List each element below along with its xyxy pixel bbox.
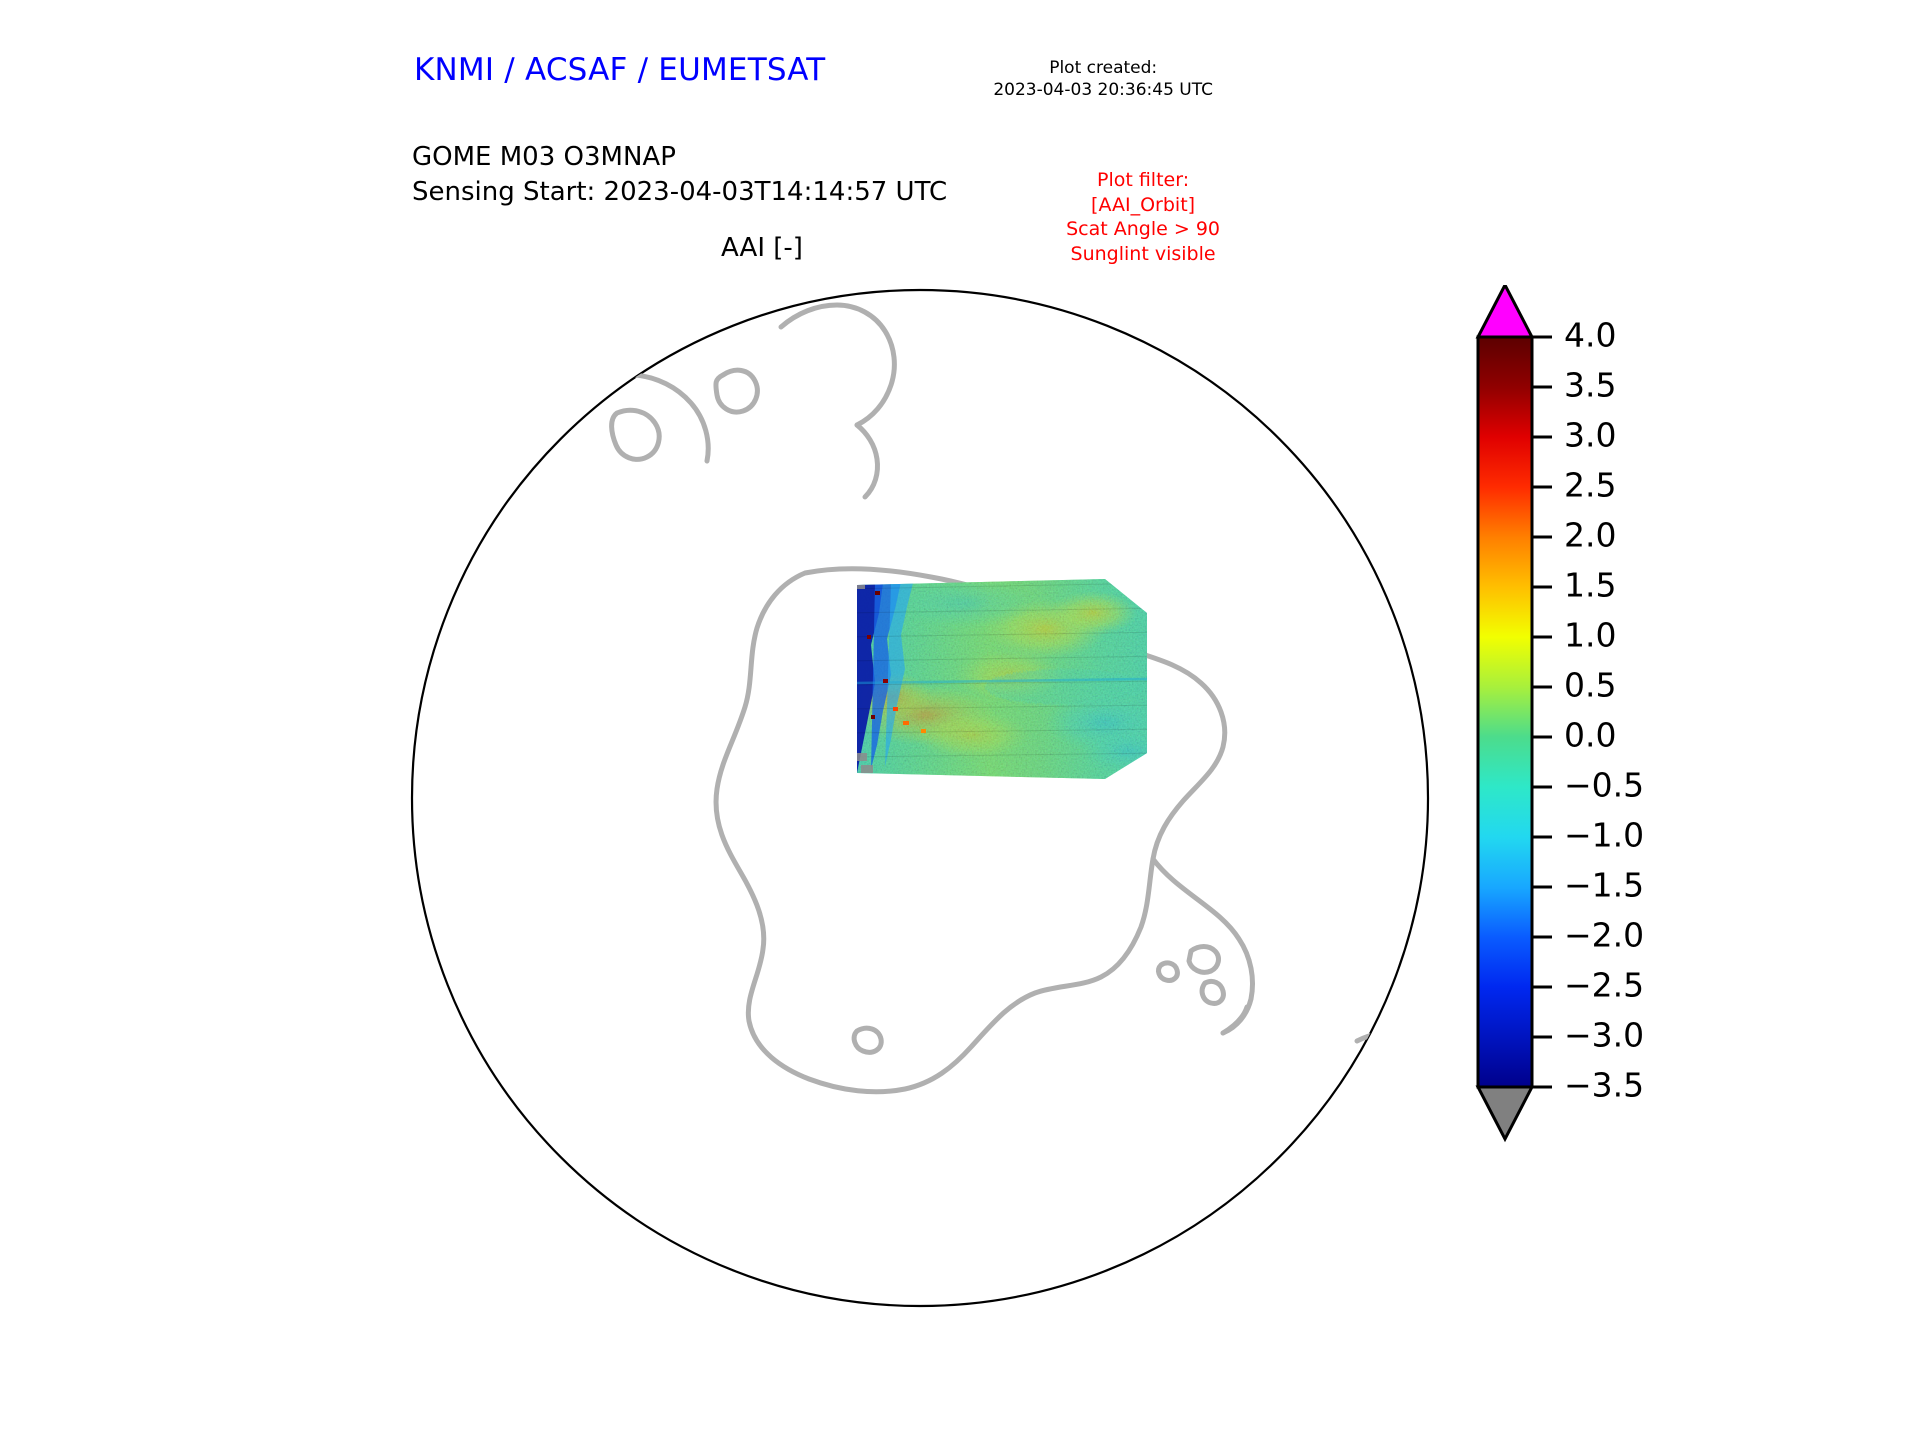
plot-created-block: Plot created: 2023-04-03 20:36:45 UTC <box>993 57 1213 101</box>
colorbar-tick-label: −2.0 <box>1564 916 1644 955</box>
sensing-start: Sensing Start: 2023-04-03T14:14:57 UTC <box>412 175 947 210</box>
colorbar-tick-label: −1.0 <box>1564 816 1644 855</box>
colorbar-tick-label: 3.5 <box>1564 366 1616 405</box>
plot-created-label: Plot created: <box>993 57 1213 79</box>
plot-created-timestamp: 2023-04-03 20:36:45 UTC <box>993 79 1213 101</box>
satellite-swath <box>845 569 1177 785</box>
plot-filter-label: Plot filter: <box>1066 168 1220 193</box>
colorbar-tick-label: 0.0 <box>1564 716 1616 755</box>
plot-filter-scat-angle: Scat Angle > 90 <box>1066 217 1220 242</box>
plot-filter-variable: [AAI_Orbit] <box>1066 193 1220 218</box>
colorbar-ticks: 4.0 3.5 3.0 2.5 2.0 1.5 1.0 0.5 0.0 −0.5… <box>1532 316 1644 1105</box>
plot-filter-block: Plot filter: [AAI_Orbit] Scat Angle > 90… <box>1066 168 1220 267</box>
colorbar-tick-label: 2.5 <box>1564 466 1616 505</box>
quantity-title: AAI [-] <box>412 233 1112 263</box>
colorbar-tick-label: 3.0 <box>1564 416 1616 455</box>
colorbar-tick-label: −3.0 <box>1564 1016 1644 1055</box>
colorbar-under-arrow <box>1478 1087 1532 1139</box>
colorbar: 4.0 3.5 3.0 2.5 2.0 1.5 1.0 0.5 0.0 −0.5… <box>1448 285 1808 1305</box>
colorbar-tick-label: 0.5 <box>1564 666 1616 705</box>
colorbar-tick-label: 2.0 <box>1564 516 1616 555</box>
colorbar-tick-label: 4.0 <box>1564 316 1616 355</box>
colorbar-tick-label: −3.5 <box>1564 1066 1644 1105</box>
map-plot-area <box>405 283 1435 1313</box>
colorbar-gradient <box>1478 337 1532 1087</box>
dataset-info-block: GOME M03 O3MNAP Sensing Start: 2023-04-0… <box>412 140 947 209</box>
organisation-title: KNMI / ACSAF / EUMETSAT <box>414 52 825 88</box>
colorbar-tick-label: 1.5 <box>1564 566 1616 605</box>
dataset-name: GOME M03 O3MNAP <box>412 140 947 175</box>
colorbar-svg: 4.0 3.5 3.0 2.5 2.0 1.5 1.0 0.5 0.0 −0.5… <box>1448 285 1808 1305</box>
colorbar-tick-label: −2.5 <box>1564 966 1644 1005</box>
colorbar-tick-label: −1.5 <box>1564 866 1644 905</box>
colorbar-tick-label: 1.0 <box>1564 616 1616 655</box>
colorbar-tick-label: −0.5 <box>1564 766 1644 805</box>
plot-filter-sunglint: Sunglint visible <box>1066 242 1220 267</box>
globe-boundary-circle <box>412 290 1428 1306</box>
polar-stereographic-map <box>405 283 1435 1313</box>
colorbar-over-arrow <box>1478 285 1532 337</box>
